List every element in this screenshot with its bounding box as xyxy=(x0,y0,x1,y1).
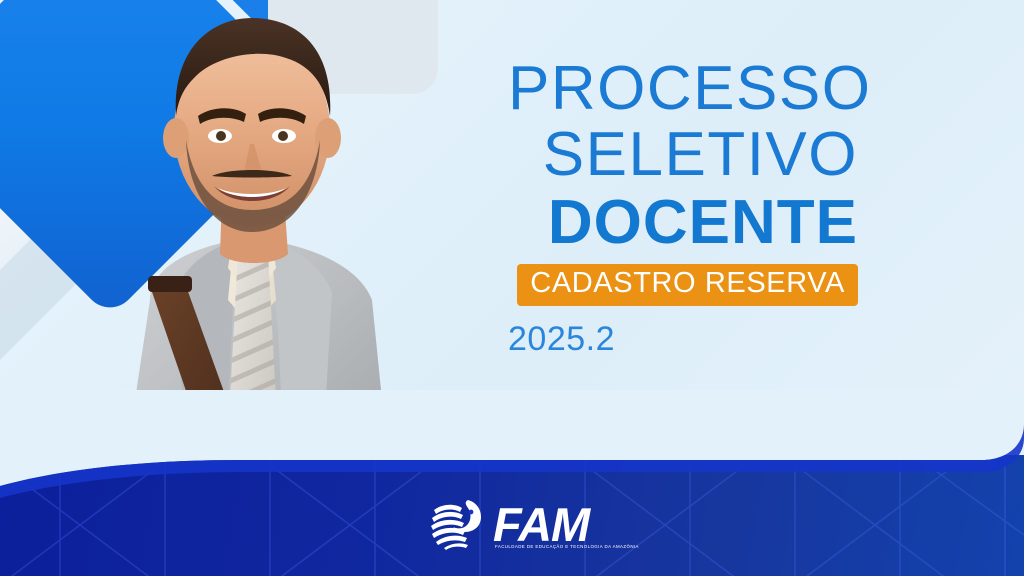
headline-line-seletivo: SELETIVO xyxy=(508,122,858,188)
promotional-banner: PROCESSO SELETIVO DOCENTE CADASTRO RESER… xyxy=(0,0,1024,576)
fam-logo: FAM FACULDADE DE EDUCAÇÃO E TECNOLOGIA D… xyxy=(424,492,589,554)
logo-wordmark: FAM xyxy=(493,501,589,548)
cadastro-reserva-badge: CADASTRO RESERVA xyxy=(517,264,858,306)
headline-line-processo: PROCESSO xyxy=(508,56,978,122)
badge-row: CADASTRO RESERVA xyxy=(508,264,858,306)
headline-block: PROCESSO SELETIVO DOCENTE CADASTRO RESER… xyxy=(508,56,978,359)
headline-line-docente: DOCENTE xyxy=(508,188,858,258)
eagle-head-icon xyxy=(424,492,486,554)
logo-text-wrap: FAM FACULDADE DE EDUCAÇÃO E TECNOLOGIA D… xyxy=(493,499,589,548)
band-top-curve-mask xyxy=(0,390,1024,500)
photo-head xyxy=(163,18,341,263)
year-label: 2025.2 xyxy=(508,320,858,359)
logo-tagline: FACULDADE DE EDUCAÇÃO E TECNOLOGIA DA AM… xyxy=(495,544,639,550)
